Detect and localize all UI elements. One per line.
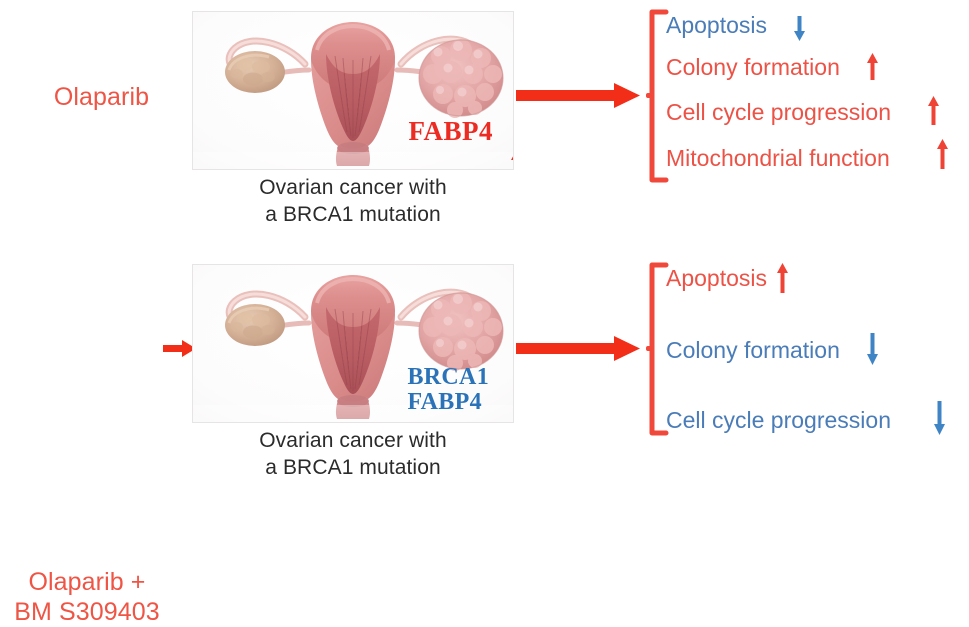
connector-arrow-icon-top (516, 82, 642, 113)
up-arrow-icon (776, 263, 789, 297)
outcome-label: Cell cycle progression (666, 101, 891, 124)
connector-arrow-icon-bottom (516, 335, 642, 366)
outcome-label: Apoptosis (666, 14, 767, 37)
gene-label-brca1-fabp4-bottom: BRCA1 FABP4 (407, 365, 489, 414)
caption-line-1: Ovarian cancer with (192, 427, 514, 454)
treatment-line-1: Olaparib + (2, 567, 172, 597)
outcome-label: Apoptosis (666, 267, 767, 290)
image-caption-bottom: Ovarian cancer with a BRCA1 mutation (192, 427, 514, 481)
gene-line-2: FABP4 (407, 390, 489, 414)
image-caption-top: Ovarian cancer with a BRCA1 mutation (192, 174, 514, 228)
treatment-line-1: Olaparib (54, 83, 149, 111)
treatment-label-bottom: Olaparib + BM S309403 (2, 567, 172, 627)
down-arrow-icon (793, 16, 806, 45)
gene-label-fabp4-top: FABP4 (409, 118, 494, 146)
panel-olaparib: Olaparib (0, 0, 969, 252)
caption-line-1: Ovarian cancer with (192, 174, 514, 201)
outcome-label: Cell cycle progression (666, 409, 891, 432)
down-arrow-icon (933, 401, 946, 439)
caption-line-2: a BRCA1 mutation (192, 454, 514, 481)
up-arrow-icon (866, 53, 879, 84)
treatment-line-2: BM S309403 (2, 597, 172, 627)
outcome-label: Mitochondrial function (666, 147, 890, 170)
gene-line-1: FABP4 (409, 116, 494, 146)
up-arrow-icon (927, 96, 940, 129)
anatomy-image-card-top: FABP4 (192, 11, 514, 170)
up-arrow-icon (936, 139, 949, 173)
caption-line-2: a BRCA1 mutation (192, 201, 514, 228)
panel-olaparib-bm-s309403: Olaparib + BM S309403 (0, 252, 969, 504)
outcome-label: Colony formation (666, 56, 840, 79)
outcome-label: Colony formation (666, 339, 840, 362)
gene-line-1: BRCA1 (407, 365, 489, 389)
treatment-label-top: Olaparib (14, 82, 189, 112)
down-arrow-icon (866, 333, 879, 369)
anatomy-image-card-bottom: BRCA1 FABP4 (192, 264, 514, 423)
